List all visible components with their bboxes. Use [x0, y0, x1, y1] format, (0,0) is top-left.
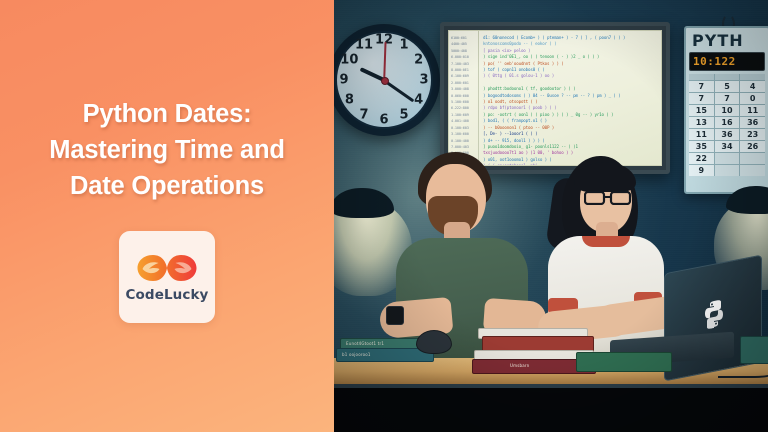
calendar-cell: 13 [689, 117, 714, 128]
title-panel: Python Dates: Mastering Time and Date Op… [0, 0, 334, 432]
book-teal-far-right [740, 336, 768, 364]
calendar-cell: 34 [715, 141, 740, 152]
calendar-cell-empty [715, 153, 740, 164]
clock-center-pin [381, 77, 389, 85]
book-spine-text-2: b1 oojooroo1 [342, 352, 371, 357]
page-title: Python Dates: Mastering Time and Date Op… [0, 96, 334, 205]
calendar-cell: 16 [715, 117, 740, 128]
calendar-cell: 4 [740, 81, 765, 92]
calendar-panel: PYTH 10:122 7547701510111316361136233534… [684, 26, 768, 194]
calendar-cell: 22 [689, 153, 714, 164]
under-desk-shadow [334, 388, 768, 432]
calendar-cell: 23 [740, 129, 765, 140]
clock-numeral-6: 6 [379, 113, 388, 128]
infinity-leaf-logo-icon [136, 251, 198, 285]
clock-numeral-3: 3 [419, 73, 428, 88]
calendar-cell: 36 [740, 117, 765, 128]
calendar-cell: 36 [715, 129, 740, 140]
computer-mouse [416, 330, 452, 354]
book-spine-text-1: Eunot4Gtoot1 tr1 [346, 341, 384, 346]
code-line: ) ( ( cn+ootobooo1, pbi- [483, 163, 658, 165]
clock-numeral-8: 8 [345, 93, 354, 108]
clock-numeral-1: 1 [399, 38, 408, 53]
clock-numeral-7: 7 [359, 107, 368, 122]
calendar-header-cell [689, 74, 714, 80]
calendar-cell: 7 [689, 93, 714, 104]
whiteboard-surface: 6100:6014400:4055000:4086.000:0107.100:4… [448, 30, 662, 166]
calendar-cell: 11 [689, 129, 714, 140]
codelucky-wordmark: CodeLucky [126, 287, 209, 303]
calendar-header-cell [740, 74, 765, 80]
calendar-cell: 15 [689, 105, 714, 116]
eyeglasses-icon [584, 190, 632, 205]
calendar-cell: 35 [689, 141, 714, 152]
clock-numeral-5: 5 [399, 107, 408, 122]
clock-numeral-2: 2 [414, 53, 423, 68]
calendar-grid: 754770151011131636113623353426229 [689, 74, 765, 176]
code-whiteboard: 6100:6014400:4055000:4086.000:0107.100:4… [440, 22, 670, 174]
calendar-cell: 10 [715, 105, 740, 116]
clock-numeral-11: 11 [355, 38, 373, 53]
calendar-cell-empty [715, 165, 740, 176]
calendar-header-cell [715, 74, 740, 80]
calendar-cell: 11 [740, 105, 765, 116]
code-gutter: 6100:6014400:4055000:4086.000:0107.100:4… [449, 31, 479, 165]
calendar-cell-empty [740, 153, 765, 164]
clock-numeral-9: 9 [339, 73, 348, 88]
book-spine-text-3: Umsbarn [510, 363, 529, 368]
woman-shirt-collar-trim [582, 236, 630, 247]
calendar-cell-empty [740, 165, 765, 176]
wristwatch-icon [386, 306, 404, 325]
calendar-cell: 0 [740, 93, 765, 104]
calendar-cell: 7 [715, 93, 740, 104]
illustration-panel: 121234567891011 6100:6014400:4055000:408… [334, 0, 768, 432]
digital-clock: 10:122 [689, 52, 765, 71]
calendar-cell: 9 [689, 165, 714, 176]
calendar-cell: 26 [740, 141, 765, 152]
slide-canvas: Python Dates: Mastering Time and Date Op… [0, 0, 768, 432]
code-body: d1: 60nonecod ( Ecomb+ ) ) pteman+ ) - 7… [479, 31, 661, 165]
calendar-title: PYTH [692, 32, 765, 50]
clock-numeral-10: 10 [340, 53, 358, 68]
calendar-cell: 7 [689, 81, 714, 92]
digital-clock-time: 10:122 [693, 55, 761, 68]
calendar-cell: 5 [715, 81, 740, 92]
codelucky-logo-card: CodeLucky [119, 231, 215, 323]
clock-numeral-4: 4 [414, 93, 423, 108]
book-green-right [576, 352, 672, 372]
python-logo-icon [702, 298, 726, 331]
